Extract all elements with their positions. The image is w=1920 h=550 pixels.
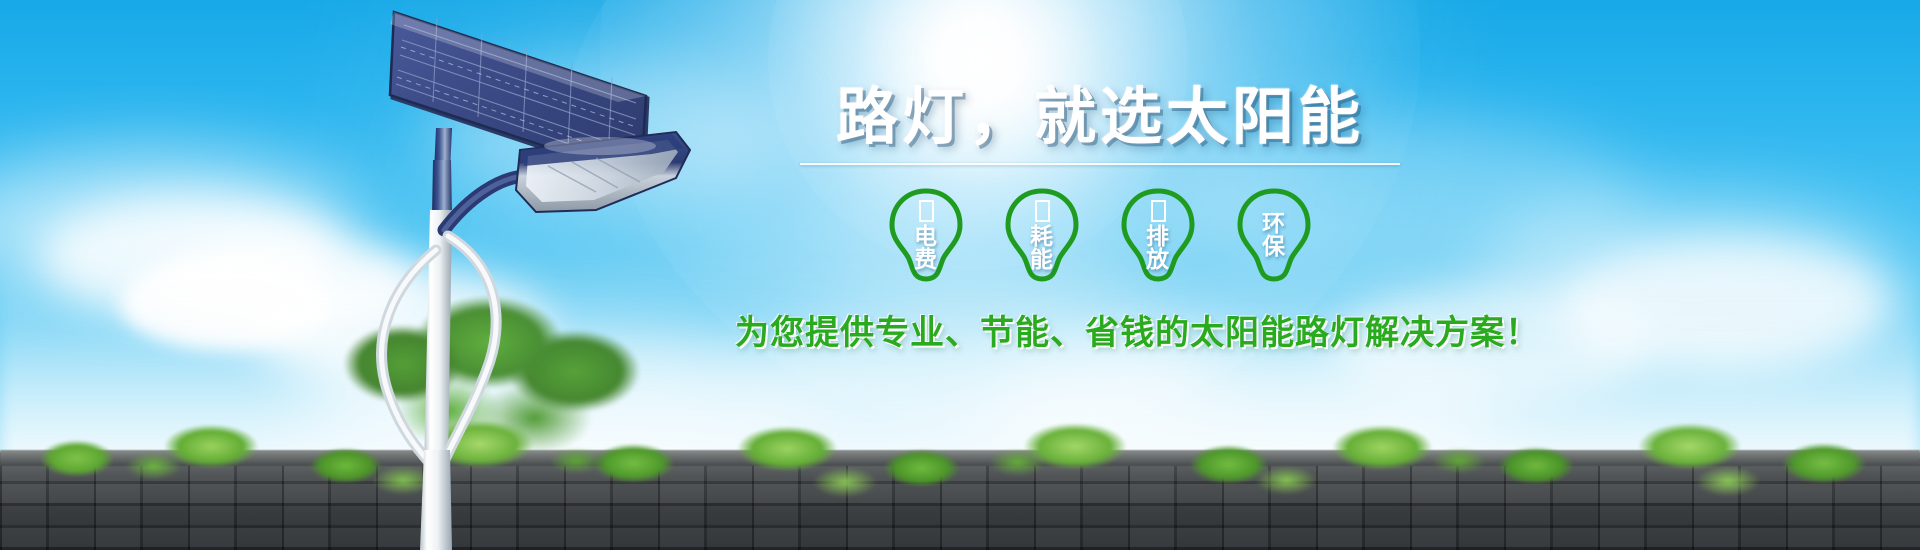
badge-label-line2: 能 xyxy=(1030,248,1054,271)
badge-label-line2: 放 xyxy=(1146,248,1170,271)
badge-label-line1: 耗 xyxy=(1030,225,1054,248)
zero-glyph-icon xyxy=(1151,200,1166,222)
tagline: 为您提供专业、节能、省钱的太阳能路灯解决方案！ xyxy=(735,305,1465,354)
badge-content: 电 费 xyxy=(880,185,972,285)
copy-block: 路灯，就选太阳能 电 费 xyxy=(735,86,1465,354)
badge-label-line1: 排 xyxy=(1146,225,1170,248)
badge-label-line1: 环 xyxy=(1262,212,1286,235)
cloud xyxy=(120,258,330,350)
badge-content: 排 放 xyxy=(1112,185,1204,285)
badge-label-line2: 保 xyxy=(1262,235,1286,258)
feature-badge-2[interactable]: 排 放 xyxy=(1112,185,1204,285)
pole-upper xyxy=(432,160,452,216)
badge-label-line2: 费 xyxy=(914,248,938,271)
badge-label-line1: 电 xyxy=(914,225,938,248)
cloud xyxy=(1480,196,1900,356)
title-divider xyxy=(800,163,1400,165)
zero-glyph-icon xyxy=(1035,200,1050,222)
zero-glyph-icon xyxy=(919,200,934,222)
lamp-head xyxy=(516,132,690,212)
badge-label: 环 保 xyxy=(1262,212,1286,258)
badge-content: 环 保 xyxy=(1228,185,1320,285)
solar-streetlight-banner: 路灯，就选太阳能 电 费 xyxy=(0,0,1920,550)
feature-badge-list: 电 费 耗 能 xyxy=(735,185,1465,285)
page-title: 路灯，就选太阳能 xyxy=(735,86,1465,149)
lamp-arm xyxy=(444,176,524,230)
cloud xyxy=(0,150,360,300)
ivy-foliage xyxy=(0,384,1920,504)
cloud xyxy=(40,196,340,316)
solar-panel xyxy=(390,12,648,182)
cloud xyxy=(1560,240,1890,370)
badge-content: 耗 能 xyxy=(996,185,1088,285)
badge-label: 排 放 xyxy=(1146,225,1170,271)
panel-mount xyxy=(434,128,452,172)
feature-badge-1[interactable]: 耗 能 xyxy=(996,185,1088,285)
badge-label: 电 费 xyxy=(914,225,938,271)
feature-badge-0[interactable]: 电 费 xyxy=(880,185,972,285)
badge-label: 耗 能 xyxy=(1030,225,1054,271)
feature-badge-3[interactable]: 环 保 xyxy=(1228,185,1320,285)
